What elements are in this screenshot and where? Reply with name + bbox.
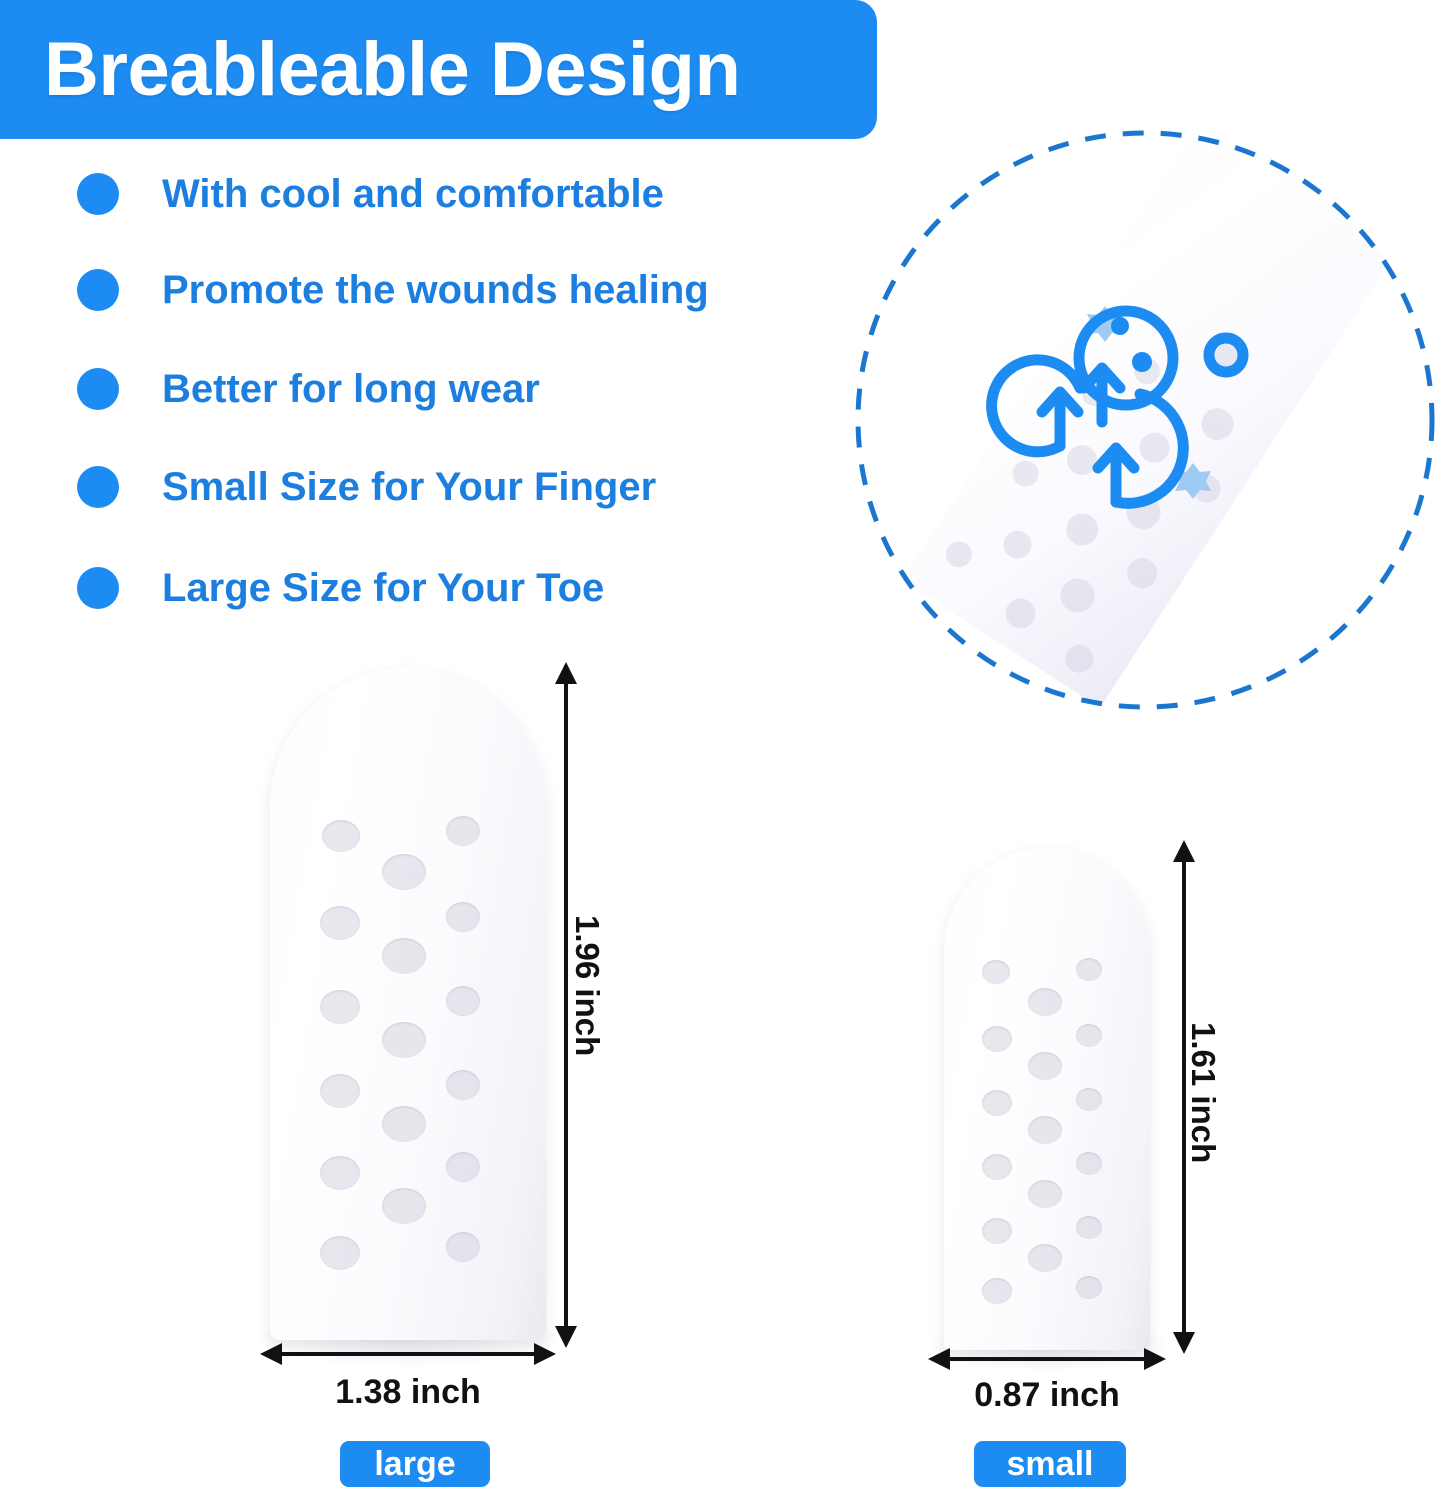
width-label-large: 1.38 inch [258,1375,558,1409]
height-label-large: 1.96 inch [571,915,604,1056]
product-figure-large: 1.96 inch 1.38 inch large [0,0,700,1500]
width-label-small: 0.87 inch [926,1378,1168,1412]
size-badge-small[interactable]: small [974,1441,1126,1487]
product-infographic: Breableable Design With cool and comfort… [0,0,1442,1500]
size-badge-large[interactable]: large [340,1441,490,1487]
toe-cap-large [270,668,546,1340]
width-dimension-arrow-small [926,1345,1168,1373]
width-dimension-arrow-large [258,1340,558,1368]
toe-cap-small [944,848,1150,1350]
height-label-small: 1.61 inch [1187,1022,1220,1163]
product-figure-small: 1.61 inch 0.87 inch small [700,0,1442,1500]
